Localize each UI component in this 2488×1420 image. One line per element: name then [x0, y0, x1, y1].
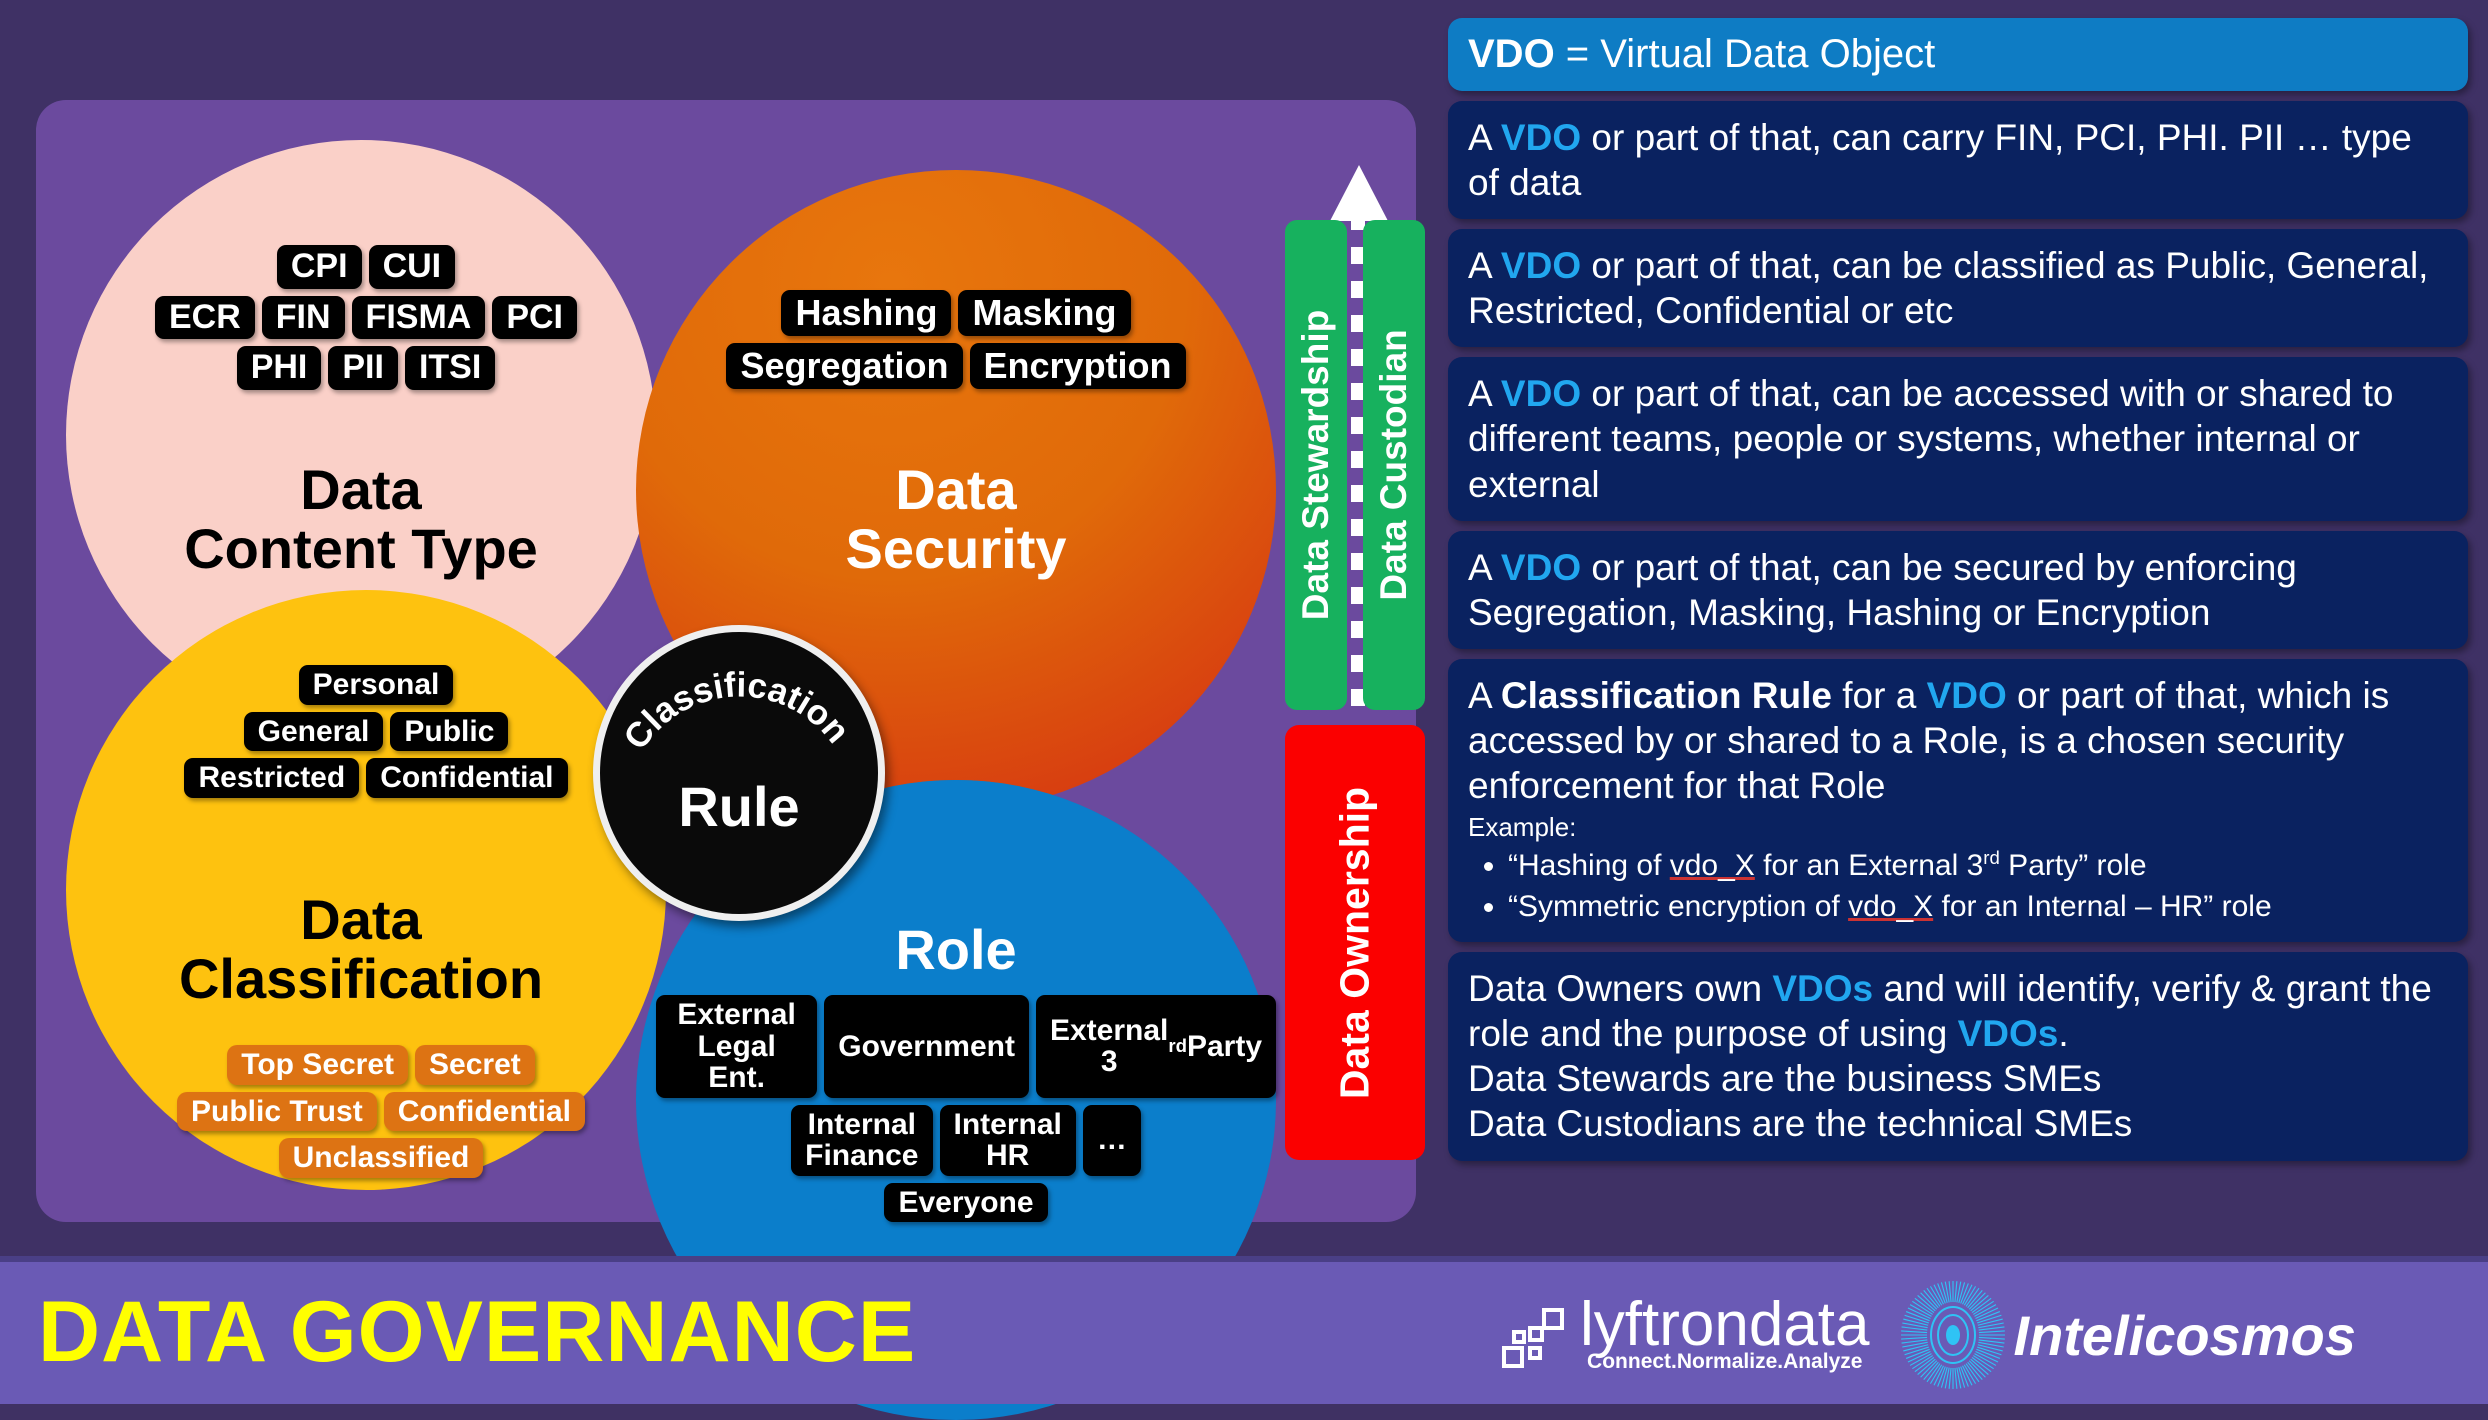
- classification-rule-token: Classification Rule: [1501, 675, 1832, 716]
- tag-fisma[interactable]: FISMA: [352, 296, 486, 340]
- tag-itsi[interactable]: ITSI: [405, 346, 495, 390]
- vdo-definition-rest: = Virtual Data Object: [1555, 32, 1936, 76]
- tag-general[interactable]: General: [244, 712, 384, 752]
- lyftron-wordmark: lyftrondata: [1580, 1296, 1870, 1355]
- owners-line-1: Data Owners own VDOs and will identify, …: [1468, 966, 2448, 1056]
- tag-hashing[interactable]: Hashing: [781, 290, 951, 336]
- tag-pci[interactable]: PCI: [492, 296, 577, 340]
- intelicosmos-wordmark: Intelicosmos: [2014, 1303, 2356, 1368]
- infographic-canvas: Data Content Type Data Security Data Cla…: [0, 0, 2488, 1404]
- tag-row: ECR FIN FISMA PCI: [155, 296, 577, 340]
- tag-confidential[interactable]: Confidential: [366, 758, 567, 798]
- tag-row: Top Secret Secret: [227, 1045, 535, 1085]
- owners-line-3: Data Custodians are the technical SMEs: [1468, 1101, 2448, 1146]
- card-security: A VDO or part of that, can be secured by…: [1448, 531, 2468, 649]
- lyftron-squares-icon: [1500, 1304, 1570, 1374]
- tag-cui[interactable]: CUI: [369, 245, 456, 289]
- title-line-1: Data: [76, 460, 646, 519]
- bar-data-custodian: Data Custodian: [1363, 220, 1425, 710]
- clearance-tag-group: Top Secret Secret Public Trust Confident…: [156, 1045, 606, 1178]
- card-data-owners: Data Owners own VDOs and will identify, …: [1448, 952, 2468, 1161]
- tag-pii[interactable]: PII: [328, 346, 398, 390]
- lyftron-tagline: Connect.Normalize.Analyze: [1580, 1350, 1870, 1374]
- rule-label: Rule: [600, 774, 878, 839]
- bar-label-ownership: Data Ownership: [1332, 786, 1379, 1098]
- title-data-security: Data Security: [676, 460, 1236, 579]
- example-label: Example:: [1468, 812, 2448, 844]
- tag-external-legal-ent[interactable]: ExternalLegal Ent.: [656, 995, 817, 1098]
- tag-row: Segregation Encryption: [726, 343, 1185, 389]
- venn-diagram-panel: Data Content Type Data Security Data Cla…: [36, 100, 1416, 1222]
- vdo-token: VDO: [1501, 245, 1581, 286]
- tag-fin[interactable]: FIN: [262, 296, 345, 340]
- example-list: “Hashing of vdo_X for an External 3rd Pa…: [1468, 846, 2448, 926]
- tag-row: ExternalLegal Ent. Government External3r…: [656, 995, 1276, 1098]
- title-line-1: Data: [676, 460, 1236, 519]
- title-data-classification: Data Classification: [71, 890, 651, 1009]
- title-role: Role: [676, 920, 1236, 979]
- svg-text:Classification: Classification: [616, 665, 857, 756]
- info-cards-column: VDO = Virtual Data Object A VDO or part …: [1448, 18, 2468, 1171]
- classification-tag-group: Personal General Public Restricted Confi…: [166, 665, 586, 798]
- bar-label-custodian: Data Custodian: [1373, 329, 1415, 600]
- card-access: A VDO or part of that, can be accessed w…: [1448, 357, 2468, 520]
- vdo-token: VDO: [1501, 117, 1581, 158]
- tag-row: Hashing Masking: [781, 290, 1130, 336]
- vdo-token: VDO: [1501, 373, 1581, 414]
- tag-row: CPI CUI: [277, 245, 455, 289]
- logo-intelicosmos: Intelicosmos: [1898, 1280, 2356, 1390]
- vdo-abbr: VDO: [1468, 32, 1555, 76]
- title-line-2: Content Type: [76, 519, 646, 578]
- tag-public[interactable]: Public: [390, 712, 508, 752]
- tag-row: General Public: [244, 712, 509, 752]
- title-line-1: Role: [676, 920, 1236, 979]
- tag-personal[interactable]: Personal: [299, 665, 454, 705]
- security-tag-group: Hashing Masking Segregation Encryption: [736, 290, 1176, 389]
- tag-ecr[interactable]: ECR: [155, 296, 255, 340]
- tag-internal-hr[interactable]: InternalHR: [940, 1105, 1076, 1176]
- title-data-content-type: Data Content Type: [76, 460, 646, 579]
- vdo-token: VDOs: [1958, 1013, 2059, 1054]
- title-line-2: Security: [676, 519, 1236, 578]
- classification-rule-badge[interactable]: Classification Rule: [593, 625, 885, 921]
- example-item-2: “Symmetric encryption of vdo_X for an In…: [1508, 887, 2448, 926]
- vdo-token: VDO: [1501, 547, 1581, 588]
- intelicosmos-starburst-icon: [1898, 1280, 2008, 1390]
- vdo-definition-header: VDO = Virtual Data Object: [1448, 18, 2468, 91]
- bar-data-ownership: Data Ownership: [1285, 725, 1425, 1160]
- tag-internal-finance[interactable]: InternalFinance: [791, 1105, 932, 1176]
- tag-everyone[interactable]: Everyone: [884, 1183, 1047, 1223]
- tag-top-secret[interactable]: Top Secret: [227, 1045, 408, 1085]
- content-type-tag-group: CPI CUI ECR FIN FISMA PCI PHI PII ITSI: [136, 245, 596, 390]
- tag-public-trust[interactable]: Public Trust: [177, 1092, 377, 1132]
- title-line-2: Classification: [71, 949, 651, 1008]
- venn-circles: Data Content Type Data Security Data Cla…: [36, 100, 1416, 1222]
- tag-secret[interactable]: Secret: [415, 1045, 535, 1085]
- title-line-1: Data: [71, 890, 651, 949]
- tag-confidential-clearance[interactable]: Confidential: [384, 1092, 585, 1132]
- role-tag-group: ExternalLegal Ent. Government External3r…: [656, 995, 1276, 1222]
- tag-row: Public Trust Confidential: [177, 1092, 585, 1132]
- logo-lyftrondata: lyftrondata Connect.Normalize.Analyze: [1500, 1296, 1870, 1375]
- tag-row: PHI PII ITSI: [237, 346, 496, 390]
- tag-row: Personal: [299, 665, 454, 705]
- stewardship-custodian-column: Data Stewardship Data Custodian: [1285, 165, 1425, 710]
- tag-row: Unclassified: [279, 1138, 484, 1178]
- logo-group: lyftrondata Connect.Normalize.Analyze In…: [1500, 1280, 2356, 1390]
- bar-label-stewardship: Data Stewardship: [1295, 310, 1337, 620]
- classification-arc-text: Classification: [600, 632, 878, 914]
- tag-unclassified[interactable]: Unclassified: [279, 1138, 484, 1178]
- tag-government[interactable]: Government: [824, 995, 1029, 1098]
- owners-line-2: Data Stewards are the business SMEs: [1468, 1056, 2448, 1101]
- page-title: DATA GOVERNANCE: [38, 1283, 916, 1382]
- example-item-1: “Hashing of vdo_X for an External 3rd Pa…: [1508, 846, 2448, 885]
- tag-more[interactable]: …: [1083, 1105, 1141, 1176]
- card-content-type: A VDO or part of that, can carry FIN, PC…: [1448, 101, 2468, 219]
- card-classification-rule: A Classification Rule for a VDO or part …: [1448, 659, 2468, 942]
- tag-row: InternalFinance InternalHR …: [791, 1105, 1141, 1176]
- tag-restricted[interactable]: Restricted: [184, 758, 359, 798]
- vdo-token: VDOs: [1772, 968, 1873, 1009]
- tag-encryption[interactable]: Encryption: [970, 343, 1186, 389]
- tag-masking[interactable]: Masking: [958, 290, 1130, 336]
- bar-data-stewardship: Data Stewardship: [1285, 220, 1347, 710]
- vdo-token: VDO: [1927, 675, 2007, 716]
- tag-external-3rd-party[interactable]: External3rd Party: [1036, 995, 1276, 1098]
- tag-cpi[interactable]: CPI: [277, 245, 362, 289]
- tag-row: Everyone: [884, 1183, 1047, 1223]
- card-classification: A VDO or part of that, can be classified…: [1448, 229, 2468, 347]
- tag-segregation[interactable]: Segregation: [726, 343, 962, 389]
- tag-row: Restricted Confidential: [184, 758, 567, 798]
- tag-phi[interactable]: PHI: [237, 346, 322, 390]
